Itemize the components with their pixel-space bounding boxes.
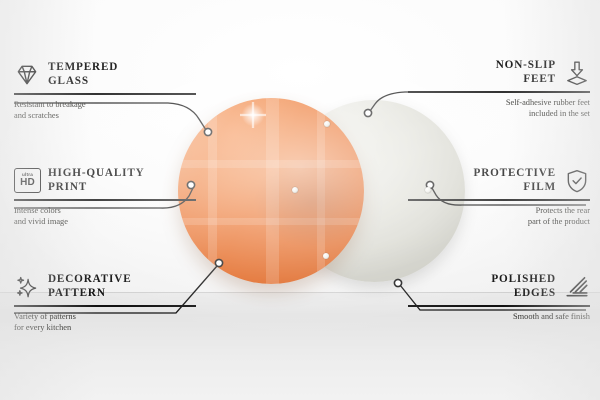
feature-title: TEMPERED GLASS [48, 61, 118, 88]
feature-divider [14, 93, 196, 95]
rubber-foot [425, 187, 431, 193]
feature-non-slip-feet: NON-SLIP FEET Self-adhesive rubber feet … [408, 58, 590, 120]
feature-title: NON-SLIP FEET [496, 59, 556, 86]
feature-title: DECORATIVE PATTERN [48, 273, 132, 300]
feature-divider [408, 305, 590, 307]
sparkle-icon [14, 274, 40, 300]
diamond-icon [14, 62, 40, 88]
rubber-foot [292, 187, 298, 193]
feature-header: TEMPERED GLASS [14, 60, 196, 90]
feature-title: POLISHED EDGES [491, 273, 556, 300]
feature-header: POLISHED EDGES [408, 272, 590, 302]
feature-polished-edges: POLISHED EDGES Smooth and safe finish [408, 272, 590, 322]
callout-dot-polished-edges [394, 279, 401, 286]
feature-decorative-pattern: DECORATIVE PATTERN Variety of patterns f… [14, 272, 196, 334]
feature-high-quality-print: ultra HD HIGH-QUALITY PRINT Intense colo… [14, 166, 196, 228]
shield-check-icon [564, 168, 590, 194]
feature-description: Intense colors and vivid image [14, 205, 196, 228]
feature-protective-film: PROTECTIVE FILM Protects the rear part o… [408, 166, 590, 228]
feature-divider [408, 91, 590, 93]
feature-header: DECORATIVE PATTERN [14, 272, 196, 302]
ultra-hd-large-label: HD [20, 178, 35, 188]
press-down-icon [564, 60, 590, 86]
callout-dot-decorative-pattern [215, 259, 222, 266]
feature-header: NON-SLIP FEET [408, 58, 590, 88]
feature-title: HIGH-QUALITY PRINT [48, 167, 145, 194]
feature-description: Self-adhesive rubber feet included in th… [408, 97, 590, 120]
infographic-canvas: TEMPERED GLASS Resistant to breakage and… [0, 0, 600, 400]
feature-header: PROTECTIVE FILM [408, 166, 590, 196]
feature-title: PROTECTIVE FILM [474, 167, 556, 194]
feature-description: Resistant to breakage and scratches [14, 99, 196, 122]
polished-edge-icon [564, 274, 590, 300]
feature-divider [14, 199, 196, 201]
feature-divider [408, 199, 590, 201]
feature-description: Protects the rear part of the product [408, 205, 590, 228]
feature-divider [14, 305, 196, 307]
feature-description: Smooth and safe finish [408, 311, 590, 323]
rubber-foot [324, 121, 330, 127]
callout-dot-tempered-glass [204, 128, 211, 135]
rubber-foot [323, 253, 329, 259]
feature-description: Variety of patterns for every kitchen [14, 311, 196, 334]
ultra-hd-icon: ultra HD [14, 168, 40, 194]
feature-tempered-glass: TEMPERED GLASS Resistant to breakage and… [14, 60, 196, 122]
callout-dot-non-slip-feet [364, 109, 371, 116]
feature-header: ultra HD HIGH-QUALITY PRINT [14, 166, 196, 196]
